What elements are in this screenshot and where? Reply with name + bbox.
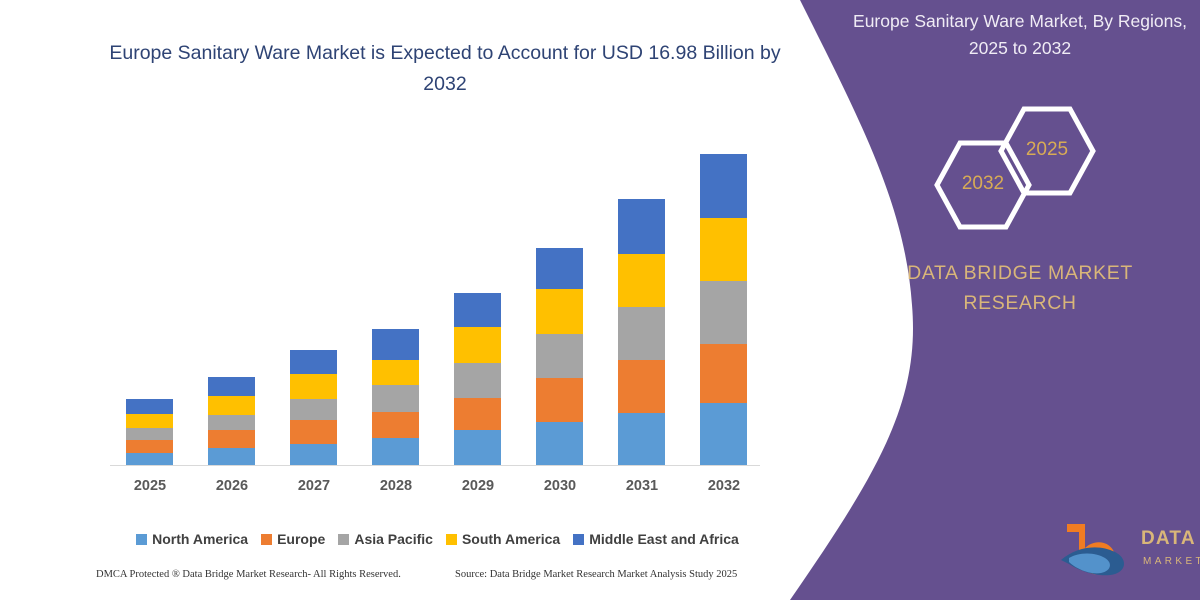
bar-segment-europe <box>536 378 583 422</box>
bar-segment-europe <box>290 420 337 443</box>
x-axis-line <box>110 465 760 466</box>
bar-segment-north-america <box>454 430 501 465</box>
bar-segment-asia-pacific <box>290 399 337 420</box>
bar-segment-south-america <box>454 327 501 363</box>
x-axis-label-2029: 2029 <box>438 478 518 494</box>
legend-label: Europe <box>277 531 325 547</box>
bar-segment-asia-pacific <box>372 385 419 412</box>
chart-legend: North AmericaEuropeAsia PacificSouth Ame… <box>110 531 765 547</box>
x-axis-label-2030: 2030 <box>520 478 600 494</box>
legend-item-europe[interactable]: Europe <box>261 531 325 547</box>
bar-segment-middle-east-and-africa <box>372 329 419 360</box>
legend-label: Middle East and Africa <box>589 531 739 547</box>
legend-label: Asia Pacific <box>354 531 433 547</box>
footer-source: Source: Data Bridge Market Research Mark… <box>455 569 737 580</box>
bar-segment-middle-east-and-africa <box>536 248 583 289</box>
bar-2030 <box>536 248 583 465</box>
legend-swatch-icon <box>261 534 272 545</box>
bar-segment-north-america <box>536 422 583 465</box>
bar-2029 <box>454 293 501 465</box>
legend-item-south-america[interactable]: South America <box>446 531 560 547</box>
bar-segment-europe <box>372 412 419 439</box>
bar-segment-asia-pacific <box>536 334 583 378</box>
bar-segment-south-america <box>372 360 419 386</box>
bar-segment-south-america <box>290 374 337 398</box>
bar-2028 <box>372 329 419 465</box>
bar-segment-south-america <box>618 254 665 307</box>
x-axis-label-2032: 2032 <box>684 478 764 494</box>
bar-segment-europe <box>700 344 747 403</box>
bar-segment-middle-east-and-africa <box>126 399 173 414</box>
bar-segment-south-america <box>700 218 747 281</box>
bar-segment-south-america <box>536 289 583 335</box>
bar-segment-asia-pacific <box>208 415 255 431</box>
bar-segment-middle-east-and-africa <box>208 377 255 396</box>
x-axis-label-2025: 2025 <box>110 478 190 494</box>
bar-2025 <box>126 399 173 465</box>
legend-label: North America <box>152 531 248 547</box>
bar-segment-south-america <box>126 414 173 428</box>
x-axis-label-2026: 2026 <box>192 478 272 494</box>
x-axis-label-2031: 2031 <box>602 478 682 494</box>
bar-segment-europe <box>618 360 665 413</box>
bar-segment-middle-east-and-africa <box>700 154 747 218</box>
bar-segment-north-america <box>700 403 747 465</box>
bar-segment-middle-east-and-africa <box>290 350 337 374</box>
bar-segment-asia-pacific <box>126 428 173 440</box>
bar-2032 <box>700 154 747 465</box>
purple-panel-shape <box>760 0 1200 600</box>
legend-label: South America <box>462 531 560 547</box>
bar-segment-south-america <box>208 396 255 414</box>
x-axis-label-2028: 2028 <box>356 478 436 494</box>
bar-segment-north-america <box>126 453 173 465</box>
bar-segment-europe <box>454 398 501 431</box>
bar-2026 <box>208 377 255 465</box>
bar-segment-north-america <box>208 448 255 465</box>
bar-segment-asia-pacific <box>700 281 747 343</box>
bar-2027 <box>290 350 337 465</box>
bar-segment-north-america <box>618 413 665 465</box>
bar-segment-asia-pacific <box>618 307 665 360</box>
bar-segment-middle-east-and-africa <box>454 293 501 328</box>
footer-copyright: DMCA Protected ® Data Bridge Market Rese… <box>96 569 401 580</box>
bar-2031 <box>618 199 665 465</box>
bar-segment-north-america <box>290 444 337 465</box>
bar-segment-asia-pacific <box>454 363 501 398</box>
bar-segment-middle-east-and-africa <box>618 199 665 254</box>
bar-segment-north-america <box>372 438 419 465</box>
legend-swatch-icon <box>573 534 584 545</box>
legend-item-asia-pacific[interactable]: Asia Pacific <box>338 531 433 547</box>
chart-plot-area: 20252026202720282029203020312032 <box>0 0 790 600</box>
legend-item-middle-east-and-africa[interactable]: Middle East and Africa <box>573 531 739 547</box>
legend-swatch-icon <box>338 534 349 545</box>
x-axis-label-2027: 2027 <box>274 478 354 494</box>
bar-segment-europe <box>126 440 173 453</box>
legend-item-north-america[interactable]: North America <box>136 531 248 547</box>
legend-swatch-icon <box>136 534 147 545</box>
legend-swatch-icon <box>446 534 457 545</box>
infographic-root: Europe Sanitary Ware Market is Expected … <box>0 0 1200 600</box>
footer: DMCA Protected ® Data Bridge Market Rese… <box>0 569 790 589</box>
bar-segment-europe <box>208 430 255 448</box>
